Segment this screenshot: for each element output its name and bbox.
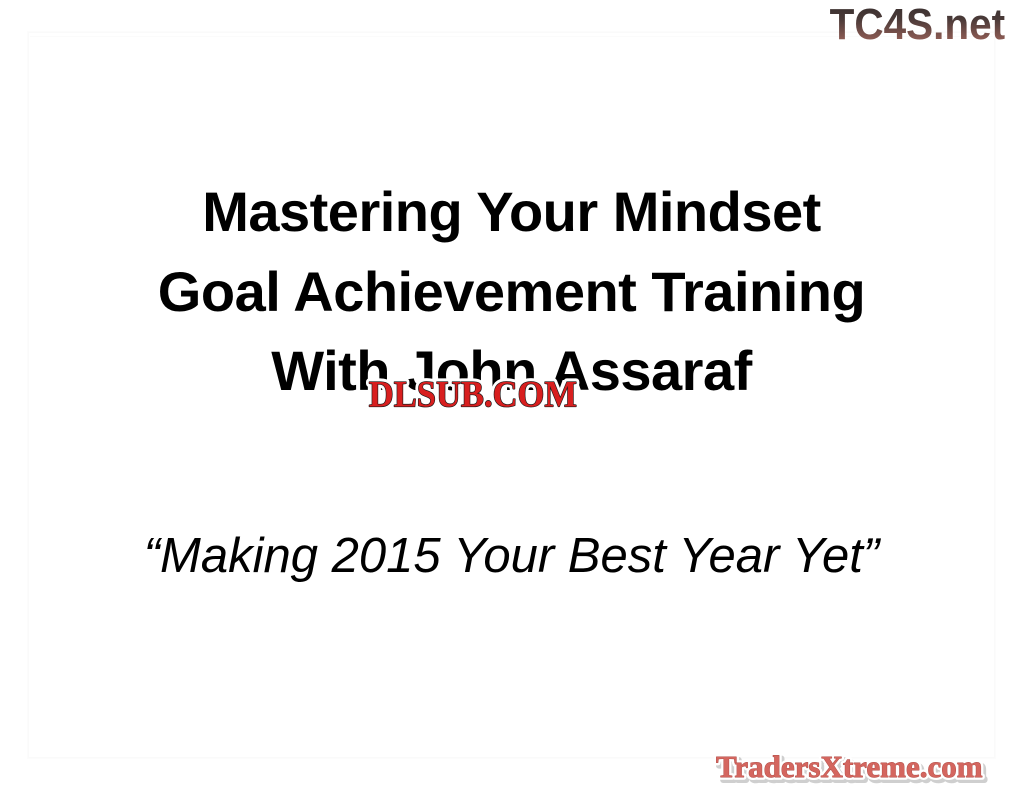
tradersxtreme-logo-text: TradersXtreme.com xyxy=(716,749,983,784)
tc4s-logo: TC4S.net xyxy=(826,1,1018,47)
tradersxtreme-logo: TradersXtreme.com TradersXtreme.com Trad… xyxy=(711,744,1016,789)
tc4s-logo-text: TC4S.net xyxy=(830,1,1005,47)
slide-page: Mastering Your Mindset Goal Achievement … xyxy=(0,0,1024,791)
page-subtitle: “Making 2015 Your Best Year Yet” xyxy=(28,527,995,586)
title-line-2: Goal Achievement Training xyxy=(28,252,995,332)
dlsub-watermark: DLSUB.COM DLSUB.COM xyxy=(363,369,653,417)
dlsub-watermark-text: DLSUB.COM xyxy=(369,373,577,415)
title-line-1: Mastering Your Mindset xyxy=(28,172,995,252)
